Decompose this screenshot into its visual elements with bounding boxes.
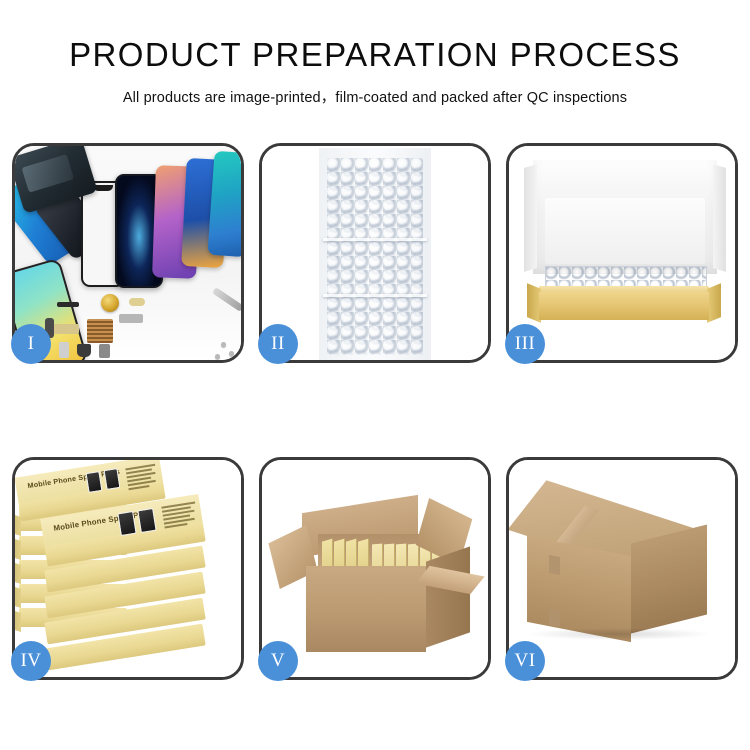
step-image-6 [509, 460, 735, 677]
bubble-pattern-overlay [327, 165, 423, 355]
phone-thumbnail [104, 468, 121, 490]
flex-cable-gold-icon [53, 324, 79, 334]
box-right-face [707, 283, 721, 323]
flex-cable-icon [57, 302, 79, 307]
sealed-carton-illustration [509, 460, 735, 677]
battery-connector-icon [99, 344, 110, 358]
phone-thumbnail [86, 471, 103, 493]
step-image-3 [509, 146, 735, 360]
foam-pad [545, 198, 705, 264]
connector-icon [129, 298, 145, 306]
step-badge-3: III [505, 324, 545, 364]
carton-front-face [306, 566, 426, 652]
box-spec-lines [125, 464, 158, 492]
step-image-5 [262, 460, 488, 677]
carton-filling-illustration [262, 460, 488, 677]
box-side-face [15, 561, 21, 584]
step-image-2 [262, 146, 488, 360]
step-panel-5: V [259, 457, 491, 680]
carton-side-face [631, 525, 707, 634]
copper-grid-icon [87, 319, 113, 343]
bag-seam [323, 238, 427, 241]
screw-icon [215, 354, 220, 359]
speaker-coil-icon [101, 294, 119, 312]
step-panel-2: II [259, 143, 491, 363]
sim-tray-icon [59, 342, 69, 358]
phone-thumbnail [137, 508, 156, 533]
packing-tape-front [549, 609, 560, 627]
stacked-boxes-illustration: Mobile Phone Spare Parts Mobile Phone Sp… [15, 460, 241, 677]
packing-tape-front [549, 555, 560, 575]
page-title: PRODUCT PREPARATION PROCESS [0, 36, 750, 74]
step-image-1 [15, 146, 241, 360]
tweezers-icon [212, 287, 241, 312]
carton-shadow [529, 628, 709, 640]
step-panel-4: Mobile Phone Spare Parts Mobile Phone Sp… [12, 457, 244, 680]
product-preparation-infographic: PRODUCT PREPARATION PROCESS All products… [0, 0, 750, 750]
step-panel-3: III [506, 143, 738, 363]
page-subtitle: All products are image-printed，film-coat… [0, 86, 750, 107]
phone-parts-illustration [15, 146, 241, 360]
inner-box-illustration [509, 146, 735, 360]
box-side-face [15, 609, 21, 632]
box-front-face [539, 292, 709, 320]
box-side-face [15, 585, 21, 608]
step-badge-6: VI [505, 641, 545, 681]
step-badge-1: I [11, 324, 51, 364]
speaker-icon [77, 344, 91, 357]
step-panel-6: VI [506, 457, 738, 680]
screw-icon [221, 342, 226, 347]
step-panel-1: I [12, 143, 244, 363]
bubble-wrap-illustration [262, 146, 488, 360]
steps-grid: I II [12, 143, 738, 680]
step-badge-2: II [258, 324, 298, 364]
carton-side-face [426, 546, 470, 647]
phone-thumbnail [117, 511, 136, 536]
box-side-face [15, 537, 21, 560]
step-badge-5: V [258, 641, 298, 681]
header: PRODUCT PREPARATION PROCESS All products… [0, 36, 750, 107]
bag-seam [323, 294, 427, 297]
screw-icon [229, 351, 234, 356]
step-badge-4: IV [11, 641, 51, 681]
step-image-4: Mobile Phone Spare Parts Mobile Phone Sp… [15, 460, 241, 677]
camera-module-icon [119, 314, 143, 323]
